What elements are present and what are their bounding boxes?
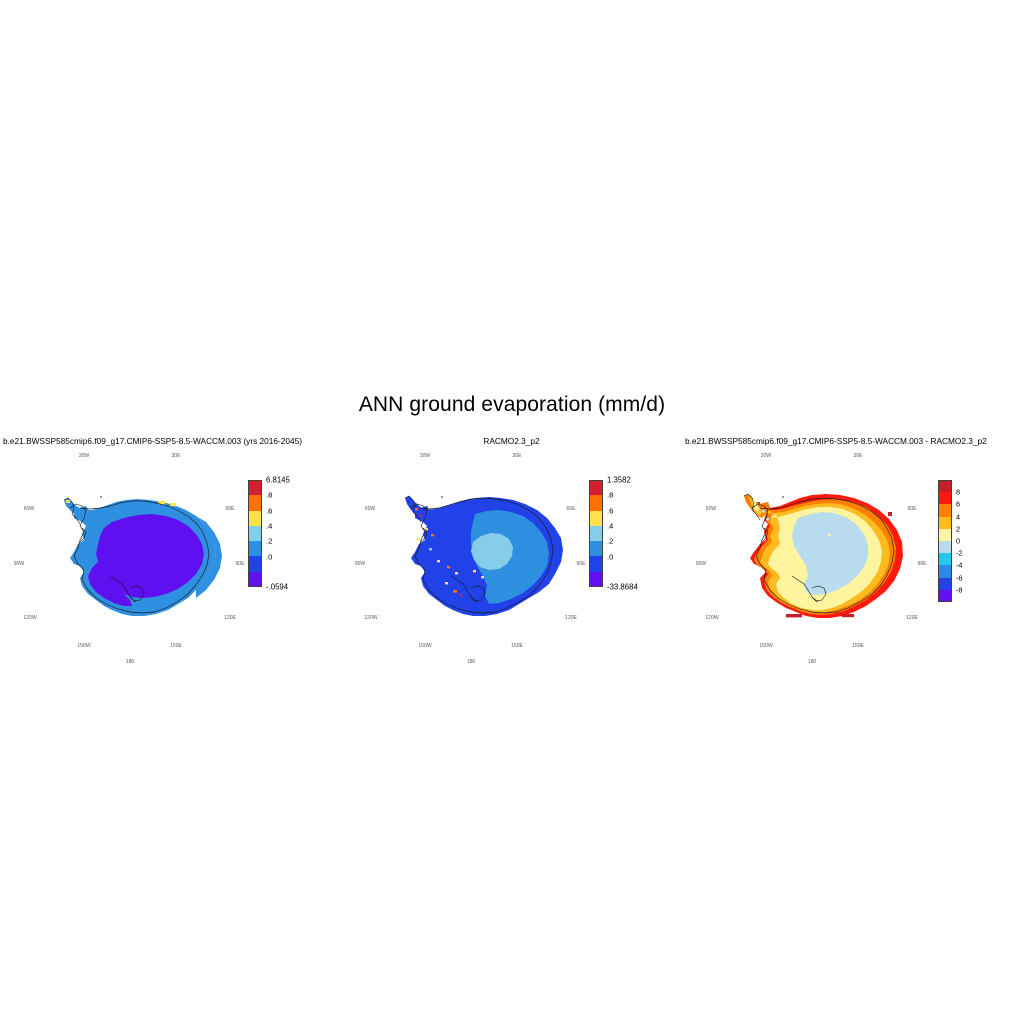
- colorbar-band-2: [589, 495, 603, 510]
- colorbar-band-2: [938, 492, 952, 504]
- colorbar-band-10: [938, 590, 952, 602]
- colorbar-band-5: [938, 529, 952, 541]
- colorbar-label-3: .4: [266, 521, 272, 530]
- panel-title: b.e21.BWSSP585cmip6.f09_g17.CMIP6-SSP5-8…: [3, 436, 302, 446]
- colorbar-band-3: [938, 504, 952, 516]
- panel-model: b.e21.BWSSP585cmip6.f09_g17.CMIP6-SSP5-8…: [0, 430, 341, 660]
- colorbar-label-6: 6: [956, 500, 960, 509]
- colorbar-label-neg6: -6: [956, 573, 963, 582]
- colorbar-label-2: .6: [266, 506, 272, 515]
- colorbar-label-min: -33.8684: [607, 583, 638, 592]
- colorbar-band-7: [938, 553, 952, 565]
- colorbar-label-neg8: -8: [956, 585, 963, 594]
- panel-title: b.e21.BWSSP585cmip6.f09_g17.CMIP6-SSP5-8…: [685, 436, 987, 446]
- colorbar-band-4: [938, 517, 952, 529]
- colorbar-label-5: .0: [607, 552, 613, 561]
- colorbar-band-6: [589, 556, 603, 571]
- colorbar[interactable]: 8 6 4 2 0 -2 -4 -6 -8: [938, 480, 952, 602]
- colorbar-label-max: 1.3582: [607, 476, 631, 485]
- colorbar-band-5: [248, 541, 262, 556]
- figure-title: ANN ground evaporation (mm/d): [0, 393, 1024, 417]
- colorbar-band-1: [248, 480, 262, 495]
- colorbar-label-4: .2: [607, 537, 613, 546]
- graticule-label-180: 180: [808, 659, 817, 665]
- antarctica-contour-fill: [682, 448, 942, 653]
- colorbar-label-4: .2: [266, 537, 272, 546]
- colorbar-label-neg4: -4: [956, 561, 963, 570]
- colorbar-band-4: [589, 526, 603, 541]
- colorbar-band-5: [589, 541, 603, 556]
- colorbar-band-6: [248, 556, 262, 571]
- colorbar-band-2: [248, 495, 262, 510]
- panel-difference: b.e21.BWSSP585cmip6.f09_g17.CMIP6-SSP5-8…: [682, 430, 1023, 660]
- colorbar-band-1: [589, 480, 603, 495]
- panel-reanalysis: RACMO2.3_p2 30W 30E 60W 90W 120W 60E 90E…: [341, 430, 682, 660]
- colorbar-label-0: 0: [956, 537, 960, 546]
- colorbar-label-2: 2: [956, 524, 960, 533]
- colorbar-label-1: .8: [607, 491, 613, 500]
- colorbar-band-3: [248, 511, 262, 526]
- colorbar-band-6: [938, 541, 952, 553]
- colorbar[interactable]: 6.8145 .8 .6 .4 .2 .0 -.0594: [248, 480, 262, 587]
- colorbar-label-1: .8: [266, 491, 272, 500]
- graticule-label-180: 180: [126, 659, 135, 665]
- map-antarctica: 30W 30E 60W 90W 120W 60E 90E 120E 150W 1…: [0, 448, 260, 653]
- map-antarctica: 30W 30E 60W 90W 120W 60E 90E 120E 150W 1…: [341, 448, 601, 653]
- colorbar-band-3: [589, 511, 603, 526]
- colorbar-band-1: [938, 480, 952, 492]
- colorbar-band-7: [589, 572, 603, 587]
- figure-canvas: ANN ground evaporation (mm/d) b.e21.BWSS…: [0, 0, 1024, 1024]
- colorbar-band-7: [248, 572, 262, 587]
- antarctica-contour-fill: [341, 448, 601, 653]
- colorbar[interactable]: 1.3582 .8 .6 .4 .2 .0 -33.8684: [589, 480, 603, 587]
- colorbar-label-neg2: -2: [956, 549, 963, 558]
- colorbar-band-4: [248, 526, 262, 541]
- colorbar-label-4: 4: [956, 512, 960, 521]
- colorbar-label-5: .0: [266, 552, 272, 561]
- colorbar-band-9: [938, 578, 952, 590]
- graticule-label-180: 180: [467, 659, 476, 665]
- panel-title: RACMO2.3_p2: [341, 436, 682, 446]
- colorbar-label-8: 8: [956, 488, 960, 497]
- colorbar-label-2: .6: [607, 506, 613, 515]
- colorbar-label-3: .4: [607, 521, 613, 530]
- map-antarctica: 30W 30E 60W 90W 120W 60E 90E 120E 150W 1…: [682, 448, 942, 653]
- colorbar-label-min: -.0594: [266, 583, 288, 592]
- colorbar-band-8: [938, 565, 952, 577]
- antarctica-contour-fill: [0, 448, 260, 653]
- colorbar-label-max: 6.8145: [266, 476, 290, 485]
